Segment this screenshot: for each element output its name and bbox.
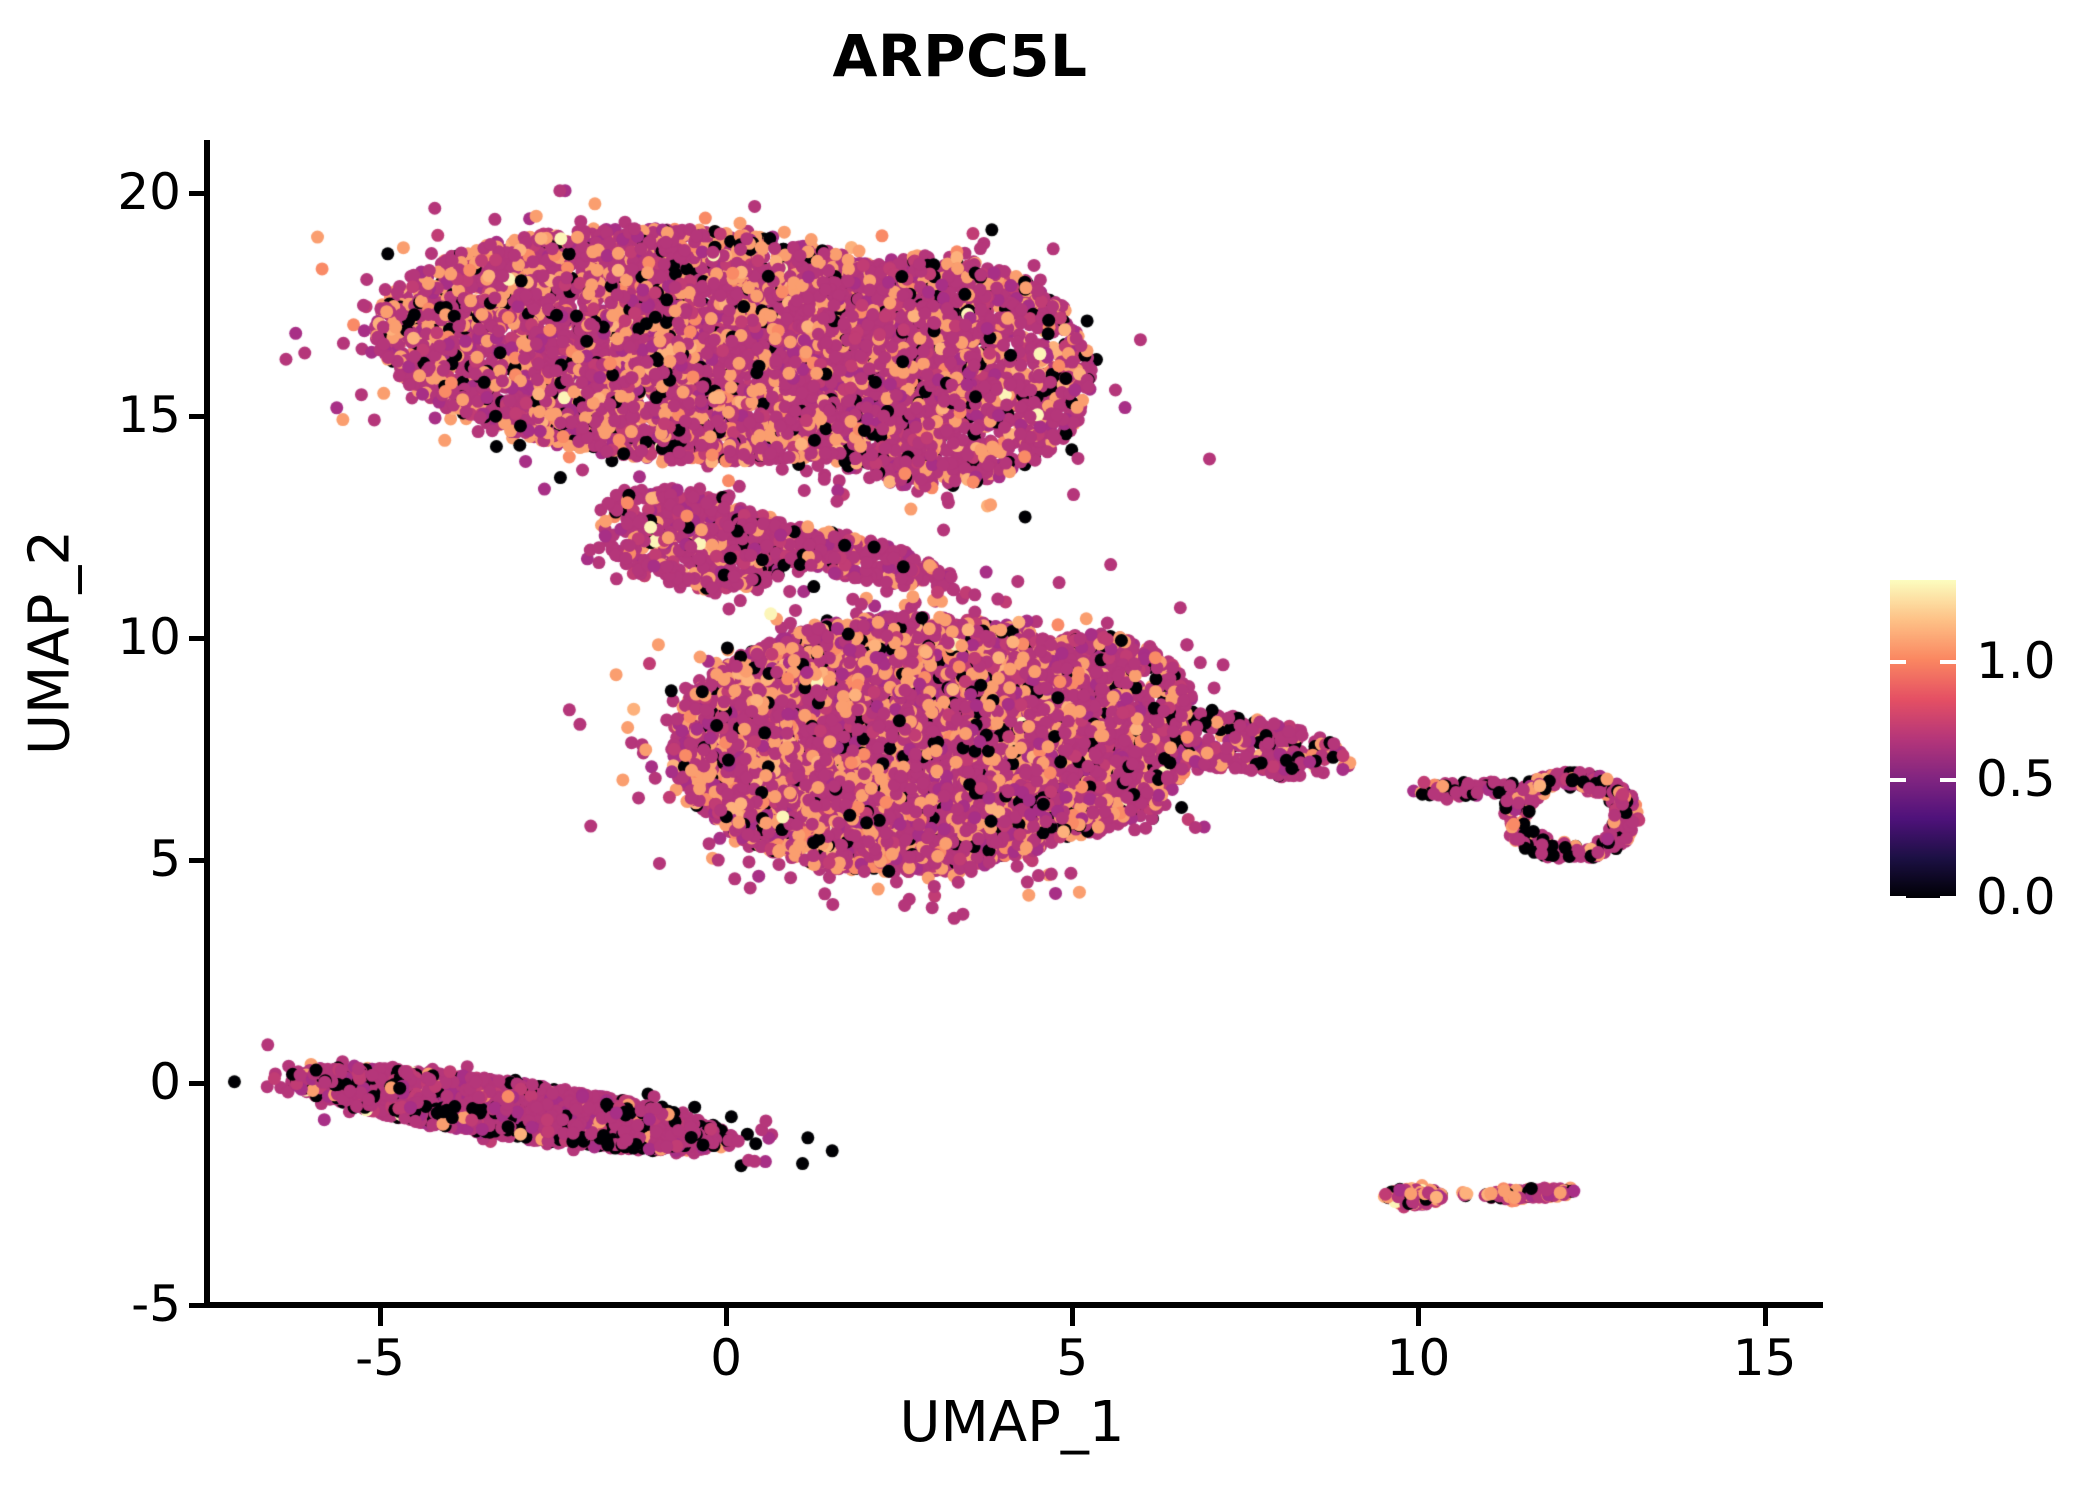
x-tick-mark	[378, 1308, 383, 1326]
scatter-canvas	[207, 140, 1820, 1305]
x-tick-mark	[1070, 1308, 1075, 1326]
y-axis-label: UMAP_2	[18, 343, 83, 943]
y-tick-mark	[189, 636, 206, 641]
colorbar-tick-mark	[1940, 896, 1956, 900]
y-tick-label: 20	[21, 167, 181, 217]
x-tick-label: 10	[1338, 1333, 1498, 1383]
x-tick-mark	[1763, 1308, 1768, 1326]
colorbar-tick-label: 0.0	[1976, 872, 2056, 922]
plot-area	[207, 140, 1820, 1305]
colorbar-tick-label: 1.0	[1976, 636, 2056, 686]
y-tick-mark	[189, 191, 206, 196]
y-tick-mark	[189, 414, 206, 419]
colorbar-tick-label: 0.5	[1976, 754, 2056, 804]
colorbar: 1.00.50.0	[1890, 580, 2090, 900]
x-tick-label: 15	[1685, 1333, 1845, 1383]
page-title: ARPC5L	[0, 22, 1920, 90]
umap-feature-plot: ARPC5L 20151050-5 -5051015 UMAP_1 UMAP_2…	[0, 0, 2100, 1500]
colorbar-tick-mark	[1890, 778, 1906, 782]
colorbar-tick-mark	[1890, 896, 1906, 900]
y-tick-mark	[189, 1081, 206, 1086]
x-tick-mark	[1416, 1308, 1421, 1326]
x-tick-label: 0	[646, 1333, 806, 1383]
x-tick-mark	[724, 1308, 729, 1326]
colorbar-tick-mark	[1940, 660, 1956, 664]
x-axis-label: UMAP_1	[712, 1390, 1312, 1455]
x-axis-spine	[204, 1302, 1823, 1308]
colorbar-tick-mark	[1940, 778, 1956, 782]
y-tick-mark	[189, 1303, 206, 1308]
y-axis-spine	[204, 140, 210, 1308]
colorbar-gradient	[1890, 580, 1956, 898]
x-tick-label: 5	[992, 1333, 1152, 1383]
y-tick-label: -5	[21, 1279, 181, 1329]
x-tick-label: -5	[300, 1333, 460, 1383]
colorbar-tick-mark	[1890, 660, 1906, 664]
y-tick-label: 0	[21, 1057, 181, 1107]
y-tick-mark	[189, 858, 206, 863]
